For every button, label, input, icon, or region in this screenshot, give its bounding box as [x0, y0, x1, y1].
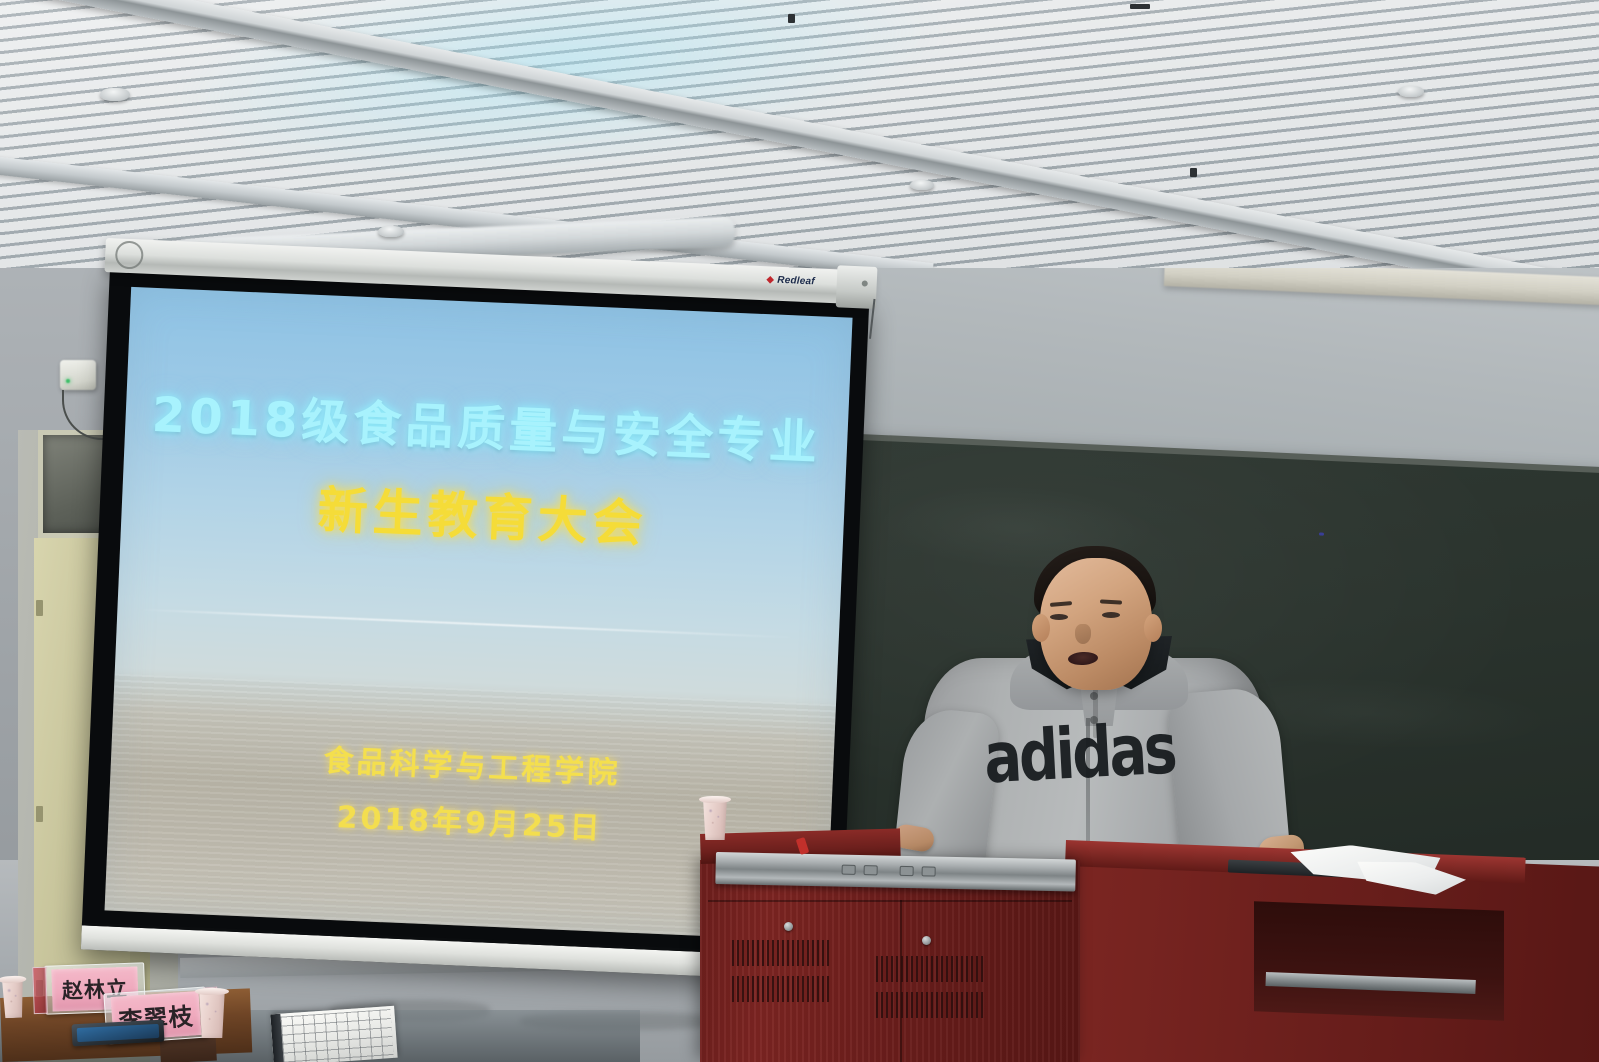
- rail-slot: [864, 865, 878, 875]
- smoke-detector: [378, 226, 404, 237]
- ceiling: [0, 0, 1599, 268]
- cup-pattern: [704, 806, 726, 830]
- slide-horizon-line: [139, 609, 796, 639]
- classroom-photo-scene: ◆ Redleaf 2018级食品质量与安全专业 新生教育大会 食品科学与工程学…: [0, 0, 1599, 1062]
- slide-subtitle: 新生教育大会: [121, 477, 844, 558]
- presenter: adidas: [900, 540, 1300, 880]
- paper-cup[interactable]: [0, 978, 27, 1019]
- podium-screw: [922, 936, 931, 945]
- rail-slot: [922, 866, 936, 876]
- brand-name: Redleaf: [777, 275, 815, 288]
- podium-screw: [784, 922, 793, 931]
- smoke-detector: [100, 88, 130, 101]
- podium-seam: [708, 900, 1072, 902]
- smoke-detector: [1398, 86, 1424, 97]
- smoke-detector: [910, 180, 934, 190]
- screen-brand-logo: ◆ Redleaf: [766, 274, 815, 287]
- notebook-grid-lines: [281, 1009, 394, 1062]
- podium-vent: [732, 976, 830, 1002]
- paper-cup[interactable]: [700, 798, 730, 840]
- slide-title: 2018级食品质量与安全专业: [125, 390, 848, 469]
- ear-left: [1032, 614, 1050, 642]
- door-hinge: [36, 600, 43, 616]
- eye-right: [1102, 612, 1120, 618]
- podium-vent: [876, 992, 984, 1018]
- shirt-button: [1090, 692, 1098, 700]
- cup-pattern: [3, 986, 23, 1009]
- paper-cup[interactable]: [196, 990, 228, 1038]
- door-hinge: [36, 806, 43, 822]
- nose: [1075, 624, 1091, 644]
- open-notebook[interactable]: [270, 1006, 397, 1062]
- side-table-recess: [1254, 901, 1504, 1021]
- cup-rim: [699, 796, 731, 803]
- cup-rim: [195, 988, 229, 995]
- name-card-side-panel: [32, 967, 48, 1014]
- brand-dot-icon: ◆: [766, 274, 774, 285]
- ceiling-hook: [1130, 4, 1150, 9]
- ceiling-hook: [1190, 168, 1197, 177]
- rail-slot: [842, 865, 856, 875]
- cup-pattern: [200, 998, 223, 1028]
- screen-pull-ring-icon[interactable]: [115, 240, 144, 269]
- head: [1040, 558, 1152, 690]
- ear-right: [1144, 614, 1162, 642]
- chalk-mark: [1319, 532, 1324, 535]
- screen-end-cap: [836, 265, 878, 309]
- wall-mounted-device: [60, 360, 96, 390]
- podium-vent: [876, 956, 984, 982]
- podium-vent: [732, 940, 830, 966]
- eye-left: [1050, 614, 1068, 620]
- ceiling-hook: [788, 14, 795, 23]
- rail-slot: [900, 866, 914, 876]
- jacket-brand-text: adidas: [982, 705, 1246, 800]
